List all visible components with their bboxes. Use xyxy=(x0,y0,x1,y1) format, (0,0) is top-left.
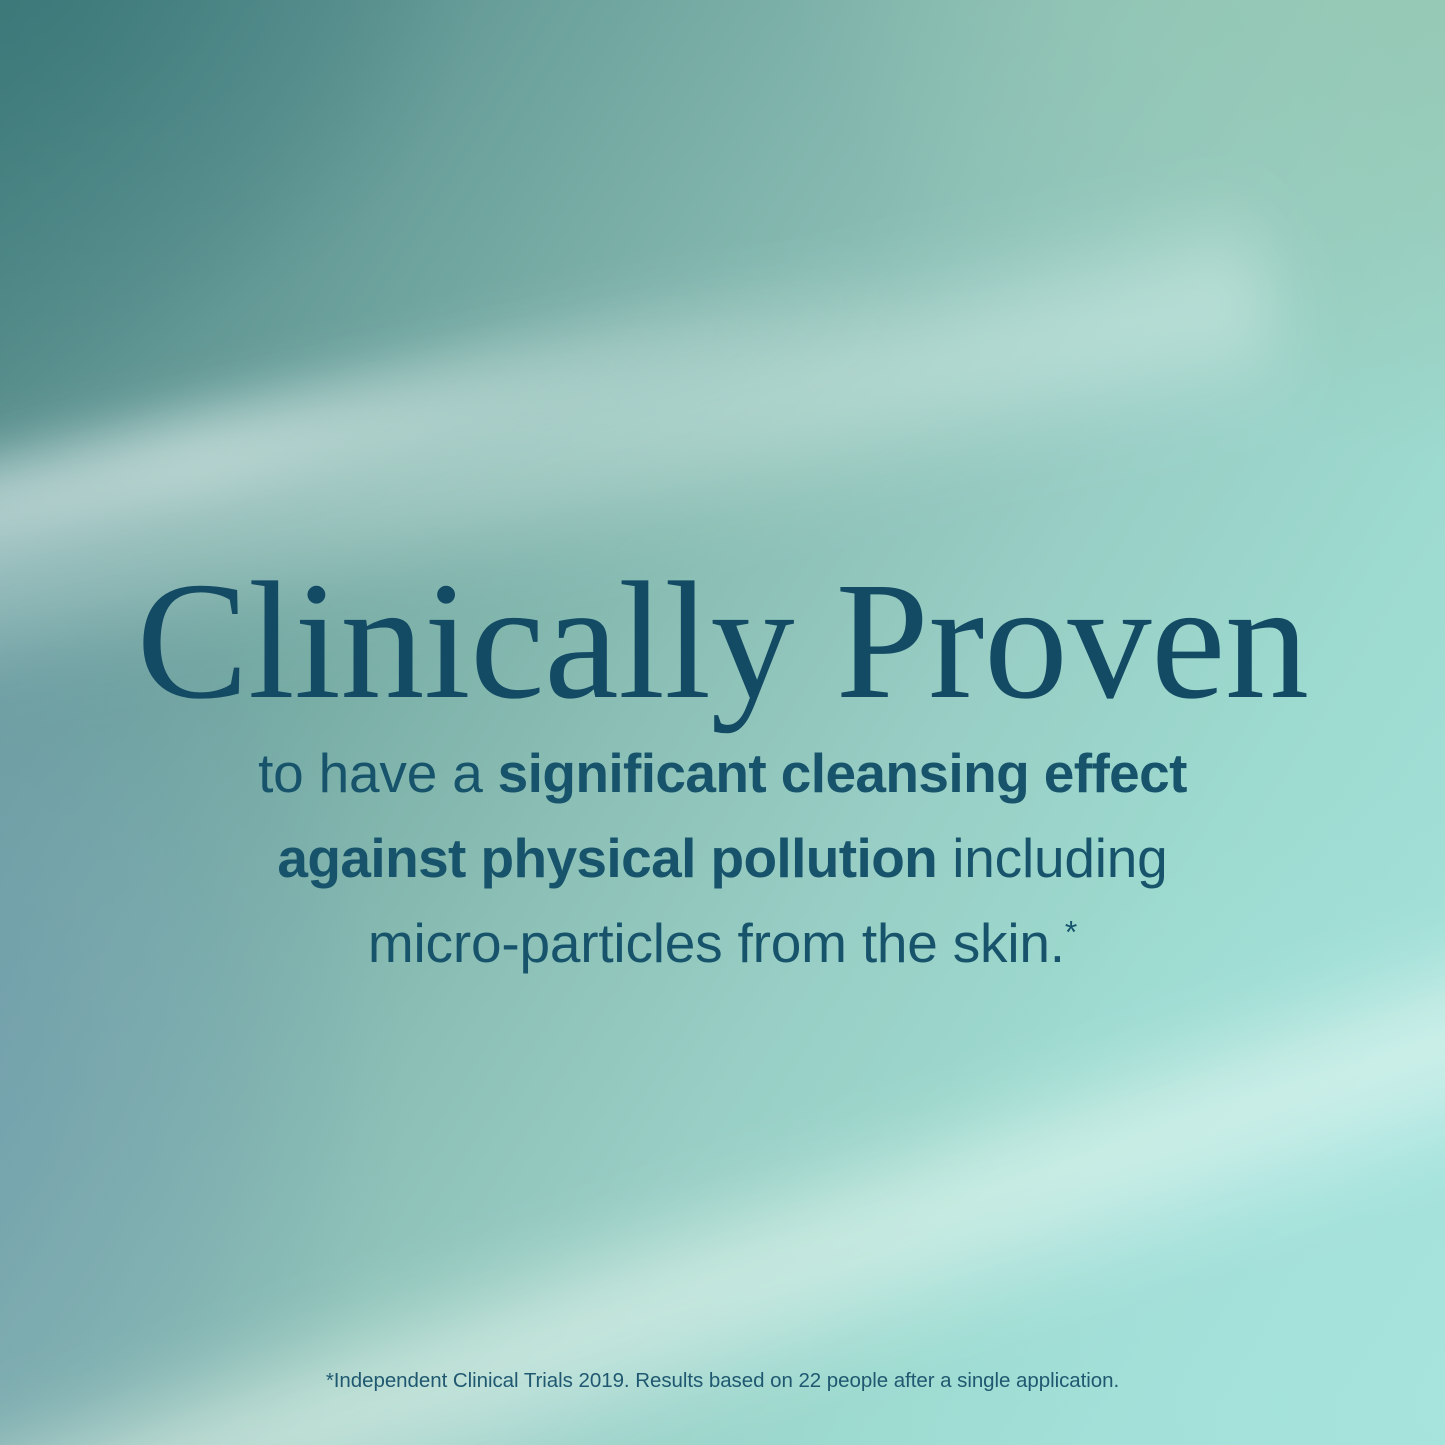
claim-line-3: micro-particles from the skin.* xyxy=(183,901,1263,986)
claim-line-1: to have a significant cleansing effect xyxy=(183,731,1263,816)
claim-line-2-regular: including xyxy=(937,827,1167,889)
footnote-marker-superscript: * xyxy=(1065,914,1077,950)
claim-line-1-bold: significant cleansing effect xyxy=(498,742,1187,804)
claim-line-2-bold: against physical pollution xyxy=(277,827,937,889)
marketing-poster: Clinically Proven to have a significant … xyxy=(0,0,1445,1445)
content-container: Clinically Proven to have a significant … xyxy=(0,0,1445,1445)
claim-statement: to have a significant cleansing effect a… xyxy=(183,731,1263,986)
claim-line-1-regular: to have a xyxy=(258,742,498,804)
claim-line-2: against physical pollution including xyxy=(183,816,1263,901)
page-title: Clinically Proven xyxy=(0,557,1445,725)
footnote-disclaimer: *Independent Clinical Trials 2019. Resul… xyxy=(0,1369,1445,1393)
claim-line-3-regular: micro-particles from the skin. xyxy=(368,912,1065,974)
